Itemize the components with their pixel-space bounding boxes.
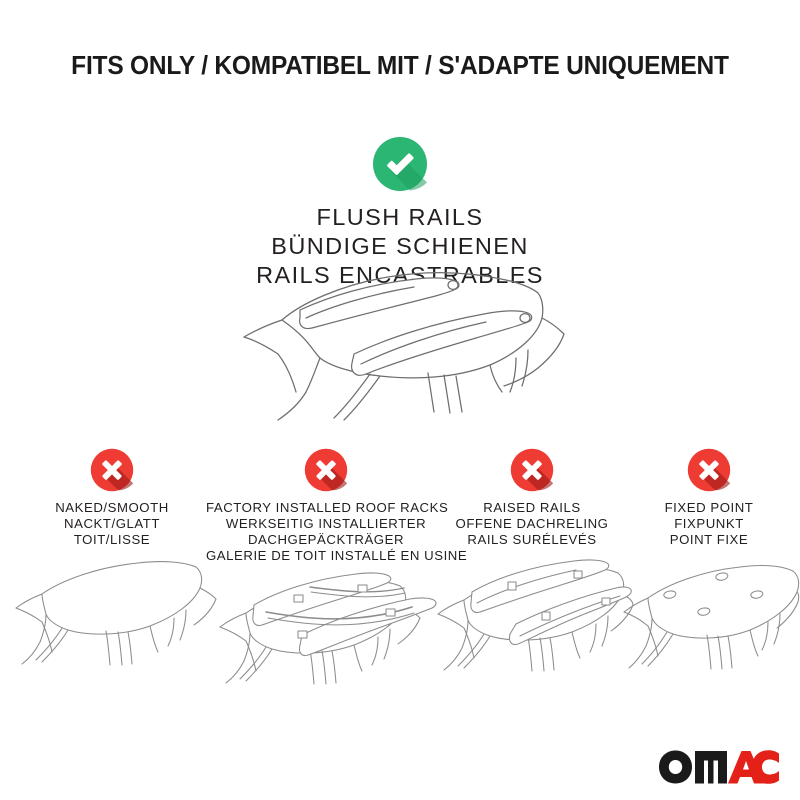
omac-logo — [658, 749, 780, 785]
car-roof-fixed-point-illustration — [618, 554, 800, 676]
cross-circle-icon — [687, 448, 731, 492]
item-label-fr: RAILS SURÉLEVÉS — [430, 532, 634, 548]
incompatible-section: NAKED/SMOOTH NACKT/GLATT TOIT/LISSE — [0, 448, 800, 698]
item-label-de: OFFENE DACHRELING — [430, 516, 634, 532]
check-circle-icon — [372, 136, 428, 192]
item-label-fr: POINT FIXE — [618, 532, 800, 548]
item-label-fr: TOIT/LISSE — [6, 532, 218, 548]
logo-letter-m — [695, 751, 727, 784]
item-label-en: RAISED RAILS — [430, 500, 634, 516]
compatible-label-en: FLUSH RAILS — [0, 203, 800, 232]
compatible-section: FLUSH RAILS BÜNDIGE SCHIENEN RAILS ENCAS… — [0, 136, 800, 290]
car-roof-bare-illustration — [6, 554, 218, 676]
car-roof-factory-crossbars-illustration — [206, 569, 446, 691]
car-roof-raised-rails-illustration — [430, 554, 634, 676]
cross-circle-icon — [510, 448, 554, 492]
item-label-en: FACTORY INSTALLED ROOF RACKS — [206, 500, 446, 516]
item-labels: FACTORY INSTALLED ROOF RACKS WERKSEITIG … — [206, 500, 446, 563]
page-title: FITS ONLY / KOMPATIBEL MIT / S'ADAPTE UN… — [16, 52, 784, 81]
incompatible-item-factory-roof-racks: FACTORY INSTALLED ROOF RACKS WERKSEITIG … — [206, 448, 446, 691]
cross-circle-icon — [90, 448, 134, 492]
item-labels: RAISED RAILS OFFENE DACHRELING RAILS SUR… — [430, 500, 634, 548]
item-labels: FIXED POINT FIXPUNKT POINT FIXE — [618, 500, 800, 548]
item-label-fr: GALERIE DE TOIT INSTALLÉ EN USINE — [206, 548, 446, 564]
item-label-de-1: WERKSEITIG INSTALLIERTER — [206, 516, 446, 532]
logo-letter-o — [659, 751, 692, 784]
item-labels: NAKED/SMOOTH NACKT/GLATT TOIT/LISSE — [6, 500, 218, 548]
compatible-label-de: BÜNDIGE SCHIENEN — [0, 232, 800, 261]
incompatible-item-raised-rails: RAISED RAILS OFFENE DACHRELING RAILS SUR… — [430, 448, 634, 676]
incompatible-item-fixed-point: FIXED POINT FIXPUNKT POINT FIXE — [618, 448, 800, 676]
item-label-de: NACKT/GLATT — [6, 516, 218, 532]
item-label-de-2: DACHGEPÄCKTRÄGER — [206, 532, 446, 548]
incompatible-item-naked-smooth: NAKED/SMOOTH NACKT/GLATT TOIT/LISSE — [6, 448, 218, 676]
item-label-en: NAKED/SMOOTH — [6, 500, 218, 516]
item-label-de: FIXPUNKT — [618, 516, 800, 532]
item-label-en: FIXED POINT — [618, 500, 800, 516]
car-roof-flush-rails-illustration — [220, 268, 580, 433]
cross-circle-icon — [304, 448, 348, 492]
